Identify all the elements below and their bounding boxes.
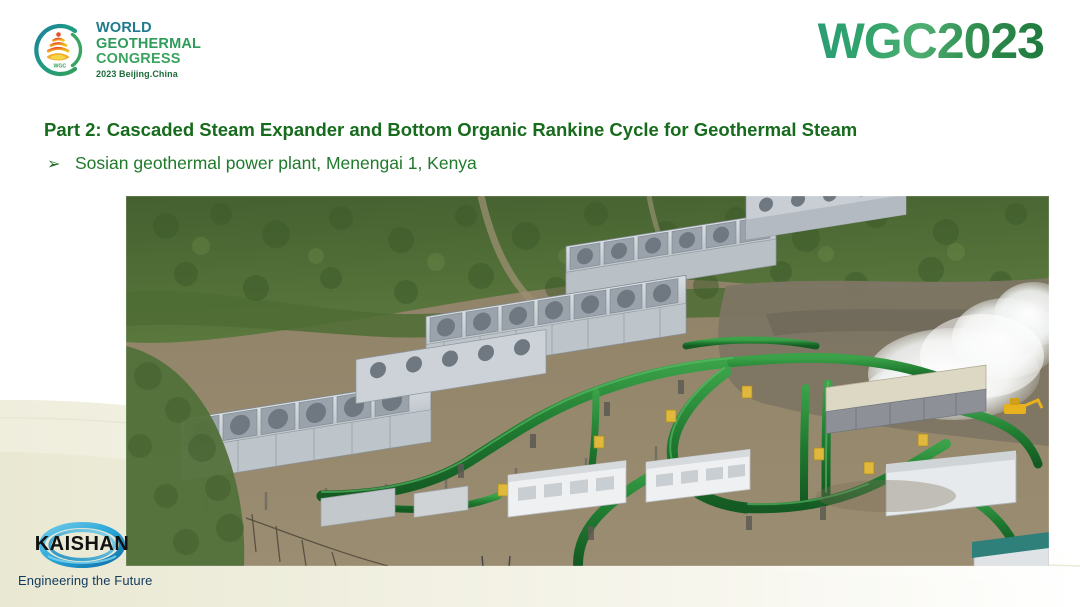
slide-canvas: WGC WORLD GEOTHERMAL CONGRESS 2023 Beiji…	[0, 0, 1080, 607]
sosian-plant-photo	[126, 196, 1049, 566]
wgc-congress-logo: WGC WORLD GEOTHERMAL CONGRESS 2023 Beiji…	[28, 16, 178, 84]
title-block: Part 2: Cascaded Steam Expander and Bott…	[44, 118, 857, 174]
kaishan-wordmark: KAISHAN	[22, 534, 142, 554]
wgc-circular-emblem-icon: WGC	[28, 19, 90, 81]
page-title: Part 2: Cascaded Steam Expander and Bott…	[44, 118, 857, 141]
wgc-logo-line-geothermal: GEOTHERMAL	[96, 37, 201, 52]
kaishan-brand-logo: KAISHAN Engineering the Future	[18, 522, 168, 594]
arrow-bullet-icon: ➢	[47, 157, 75, 173]
bullet-item: ➢ Sosian geothermal power plant, Menenga…	[47, 153, 857, 174]
wgc-logo-wordmark: WORLD GEOTHERMAL CONGRESS 2023 Beijing.C…	[96, 21, 201, 79]
wgc-mark-text: WGC	[54, 64, 67, 70]
wgc-logo-line-congress: CONGRESS	[96, 52, 201, 67]
bullet-item-label: Sosian geothermal power plant, Menengai …	[75, 153, 477, 174]
wgc-logo-line-world: WORLD	[96, 21, 201, 36]
kaishan-ring-icon: KAISHAN	[18, 522, 146, 568]
wgc2023-wordmark: WGC2023	[818, 16, 1044, 66]
wgc-logo-line-location: 2023 Beijing.China	[96, 70, 201, 79]
kaishan-tagline: Engineering the Future	[18, 573, 168, 588]
